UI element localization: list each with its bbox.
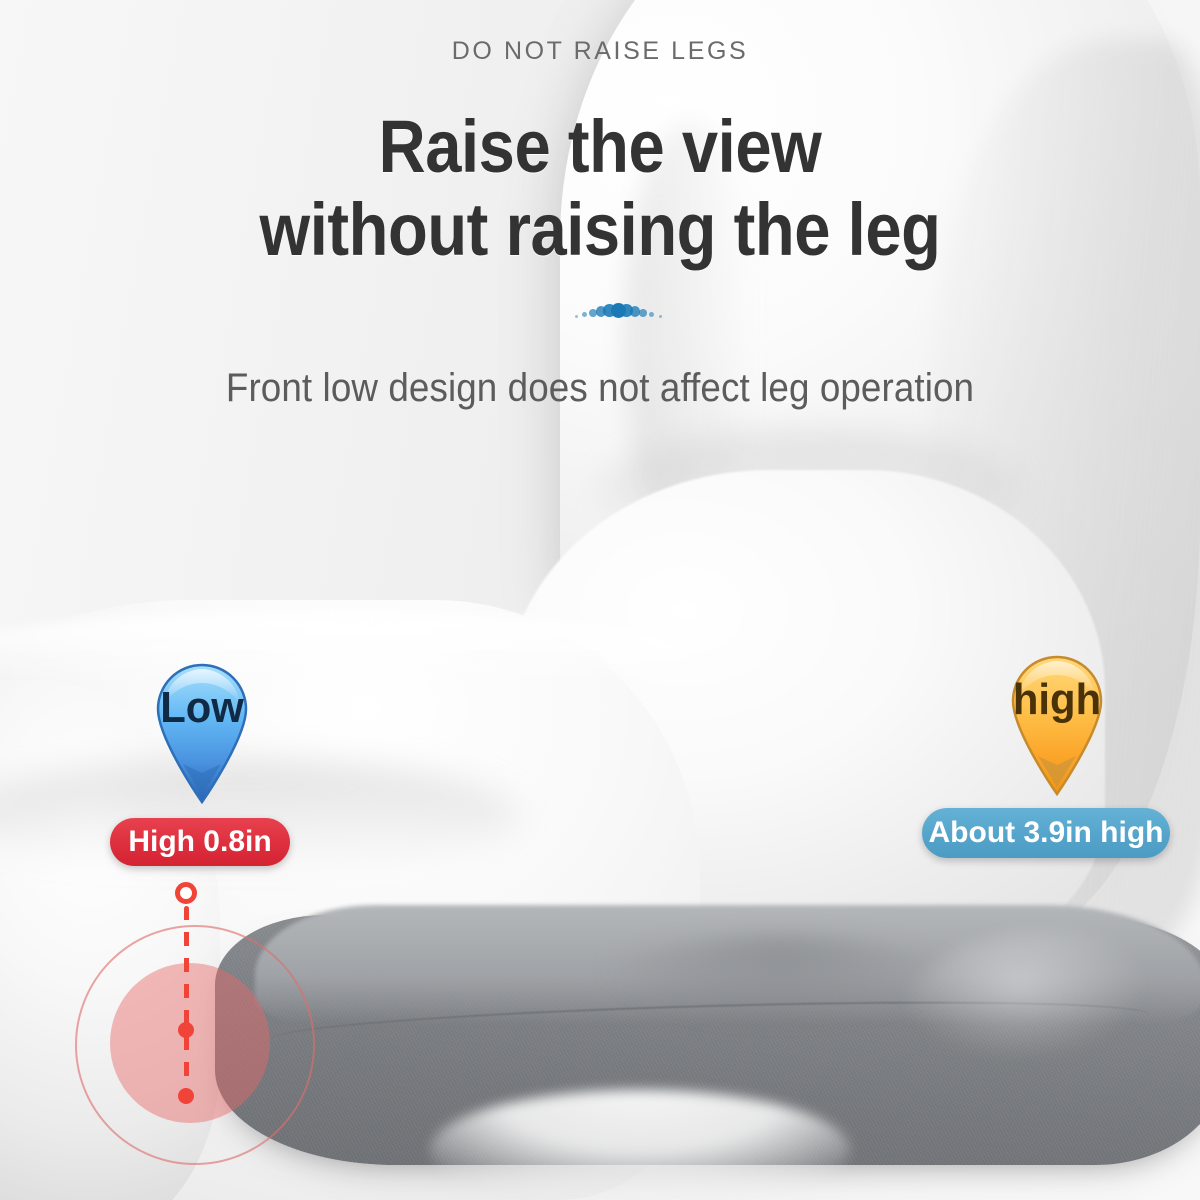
headline-line-1: Raise the view — [379, 105, 822, 188]
measurement-dot-upper — [178, 1022, 194, 1038]
headline-line-2: without raising the leg — [72, 189, 1128, 272]
blue-dot-arc-icon — [576, 296, 660, 322]
low-marker-pin[interactable]: Low — [153, 661, 251, 803]
high-height-badge[interactable]: About 3.9in high — [922, 808, 1170, 858]
high-badge-label: About 3.9in high — [929, 816, 1164, 850]
cushion-highlight — [900, 930, 1200, 1110]
page-title: Raise the view without raising the leg — [72, 106, 1128, 272]
subtitle-text: Front low design does not affect leg ope… — [48, 366, 1152, 411]
low-badge-label: High 0.8in — [128, 825, 271, 859]
measurement-anchor-ring-icon — [175, 882, 197, 904]
measurement-dot-lower — [178, 1088, 194, 1104]
product-infographic: DO NOT RAISE LEGS Raise the view without… — [0, 0, 1200, 1200]
low-height-badge[interactable]: High 0.8in — [110, 818, 290, 866]
eyebrow-text: DO NOT RAISE LEGS — [0, 37, 1200, 66]
cushion-front-cutout — [430, 1090, 850, 1200]
measurement-dashed-line — [184, 906, 189, 1088]
high-marker-pin[interactable]: high — [1008, 653, 1106, 795]
